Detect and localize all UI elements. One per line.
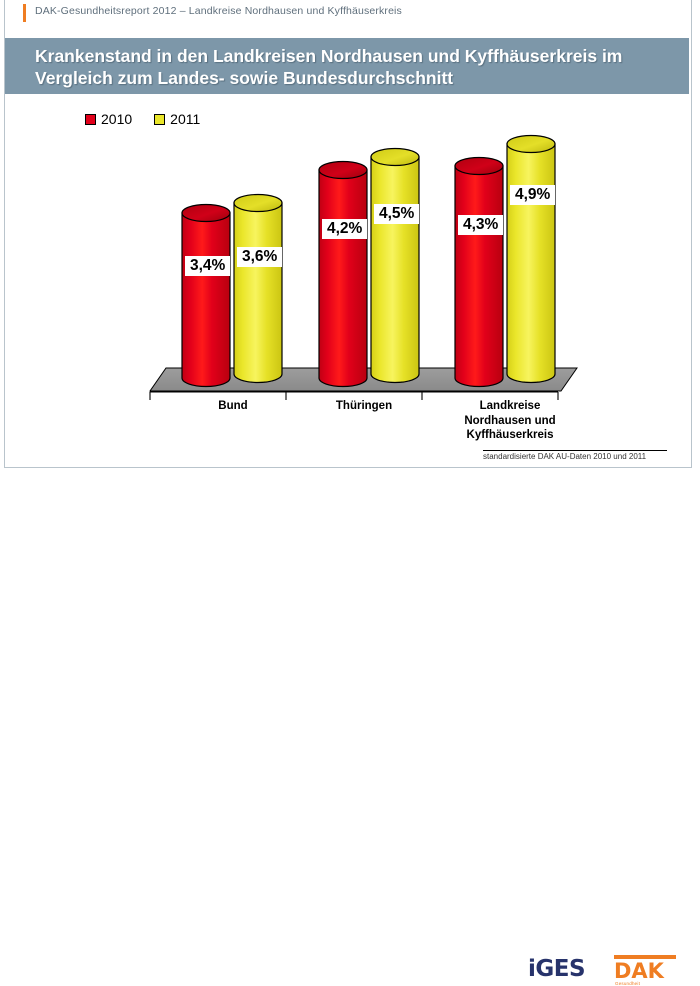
- bar-bund-2011: [234, 195, 282, 383]
- category-label-landkreise-line3: Kyffhäuserkreis: [425, 428, 595, 443]
- data-label-thueringen-2010: 4,2%: [322, 219, 367, 239]
- dak-logo-text: DAK: [614, 959, 664, 983]
- data-label-bund-2010: 3,4%: [185, 256, 230, 276]
- legend-label-2011: 2011: [170, 111, 200, 127]
- running-header: DAK-Gesundheitsreport 2012 – Landkreise …: [5, 0, 693, 36]
- title-banner: Krankenstand in den Landkreisen Nordhaus…: [5, 38, 689, 94]
- category-label-landkreise: Landkreise Nordhausen und Kyffhäuserkrei…: [425, 399, 595, 443]
- running-header-text: DAK-Gesundheitsreport 2012 – Landkreise …: [35, 5, 402, 17]
- slide-content-frame: DAK-Gesundheitsreport 2012 – Landkreise …: [4, 0, 692, 468]
- bar-thueringen-2011: [371, 149, 419, 383]
- category-label-bund: Bund: [178, 399, 288, 414]
- bar-landkreise-2010: [455, 158, 503, 387]
- bar-landkreise-2011: [507, 136, 555, 383]
- legend-item-2011: 2011: [154, 111, 200, 127]
- legend-item-2010: 2010: [85, 111, 132, 127]
- bar-thueringen-2010: [319, 162, 367, 387]
- slide-footer: iGES DAK Gesundheit: [0, 470, 700, 510]
- header-accent-bar: [23, 4, 26, 22]
- slide: DAK-Gesundheitsreport 2012 – Landkreise …: [0, 0, 700, 510]
- category-label-landkreise-line1: Landkreise: [425, 399, 595, 414]
- legend-label-2010: 2010: [101, 111, 132, 127]
- legend-swatch-2011: [154, 114, 165, 125]
- legend-swatch-2010: [85, 114, 96, 125]
- dak-logo: DAK Gesundheit: [614, 955, 676, 980]
- data-label-landkreise-2011: 4,9%: [510, 185, 555, 205]
- source-note-rule: [483, 450, 667, 451]
- data-label-bund-2011: 3,6%: [237, 247, 282, 267]
- source-note: standardisierte DAK AU-Daten 2010 und 20…: [483, 452, 646, 461]
- bar-bund-2010: [182, 205, 230, 387]
- page-title: Krankenstand in den Landkreisen Nordhaus…: [35, 45, 680, 89]
- iges-logo: iGES: [528, 956, 585, 982]
- category-label-thueringen: Thüringen: [299, 399, 429, 414]
- dak-logo-subtitle: Gesundheit: [615, 981, 640, 986]
- data-label-landkreise-2010: 4,3%: [458, 215, 503, 235]
- chart-legend: 2010 2011: [85, 111, 200, 127]
- chart-floor: [150, 368, 577, 391]
- data-label-thueringen-2011: 4,5%: [374, 204, 419, 224]
- category-label-landkreise-line2: Nordhausen und: [425, 414, 595, 429]
